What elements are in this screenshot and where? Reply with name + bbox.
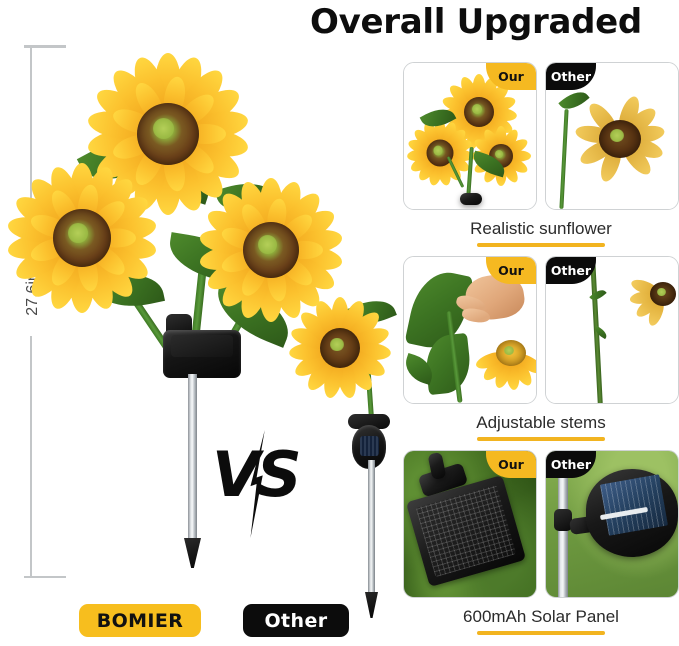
brand-pill-other: Other (243, 604, 349, 637)
feature-comparison-column: Our Other Realistic sunflower (403, 0, 679, 646)
caption-underline (477, 631, 605, 635)
flower-disc (53, 209, 111, 267)
solar-cell-blue (600, 474, 668, 536)
other-card: Other (545, 256, 679, 404)
flower-disc (243, 222, 299, 278)
feature-solar-panel: Our Other 600mAh Solar Panel (403, 450, 679, 635)
other-stake-tip (365, 592, 378, 618)
solar-head (460, 193, 482, 205)
comparison-card-pair: Our Other (403, 62, 679, 210)
caption-underline (477, 437, 605, 441)
feature-caption: Realistic sunflower (403, 219, 679, 239)
sunflower-bloom (406, 119, 474, 187)
brand-pill-bomier: BOMIER (79, 604, 201, 637)
other-stake-pole (368, 460, 375, 598)
feature-realistic-sunflower: Our Other Realistic sunflower (403, 62, 679, 247)
our-card: Our (403, 256, 537, 404)
caption-underline (477, 243, 605, 247)
other-card: Other (545, 450, 679, 598)
feature-caption: 600mAh Solar Panel (403, 607, 679, 627)
feature-adjustable-stems: Our Other Adjustable stems (403, 256, 679, 441)
flower-disc (137, 103, 199, 165)
dimension-tick-bottom (24, 576, 66, 578)
sunflower-bloom-left (4, 160, 160, 316)
sunflower-bloom (474, 319, 537, 387)
other-card: Other (545, 62, 679, 210)
sunflower-bloom-other (288, 296, 392, 400)
bomier-stake-pole (188, 374, 197, 544)
bomier-stake-tip (184, 538, 201, 568)
our-card: Our (403, 450, 537, 598)
sunflower-bloom-partial (630, 263, 679, 325)
bomier-solar-panel-head (163, 330, 241, 378)
comparison-card-pair: Our Other (403, 450, 679, 598)
flower-disc (320, 328, 360, 368)
comparison-card-pair: Our Other (403, 256, 679, 404)
feature-caption: Adjustable stems (403, 413, 679, 433)
stem (559, 109, 568, 209)
vs-label: VS (212, 444, 299, 506)
our-card: Our (403, 62, 537, 210)
hero-comparison-panel: 27.6in (0, 0, 400, 646)
sunflower-bloom-wilted (572, 97, 668, 181)
product-comparison-infographic: Overall Upgraded 27.6in (0, 0, 679, 646)
